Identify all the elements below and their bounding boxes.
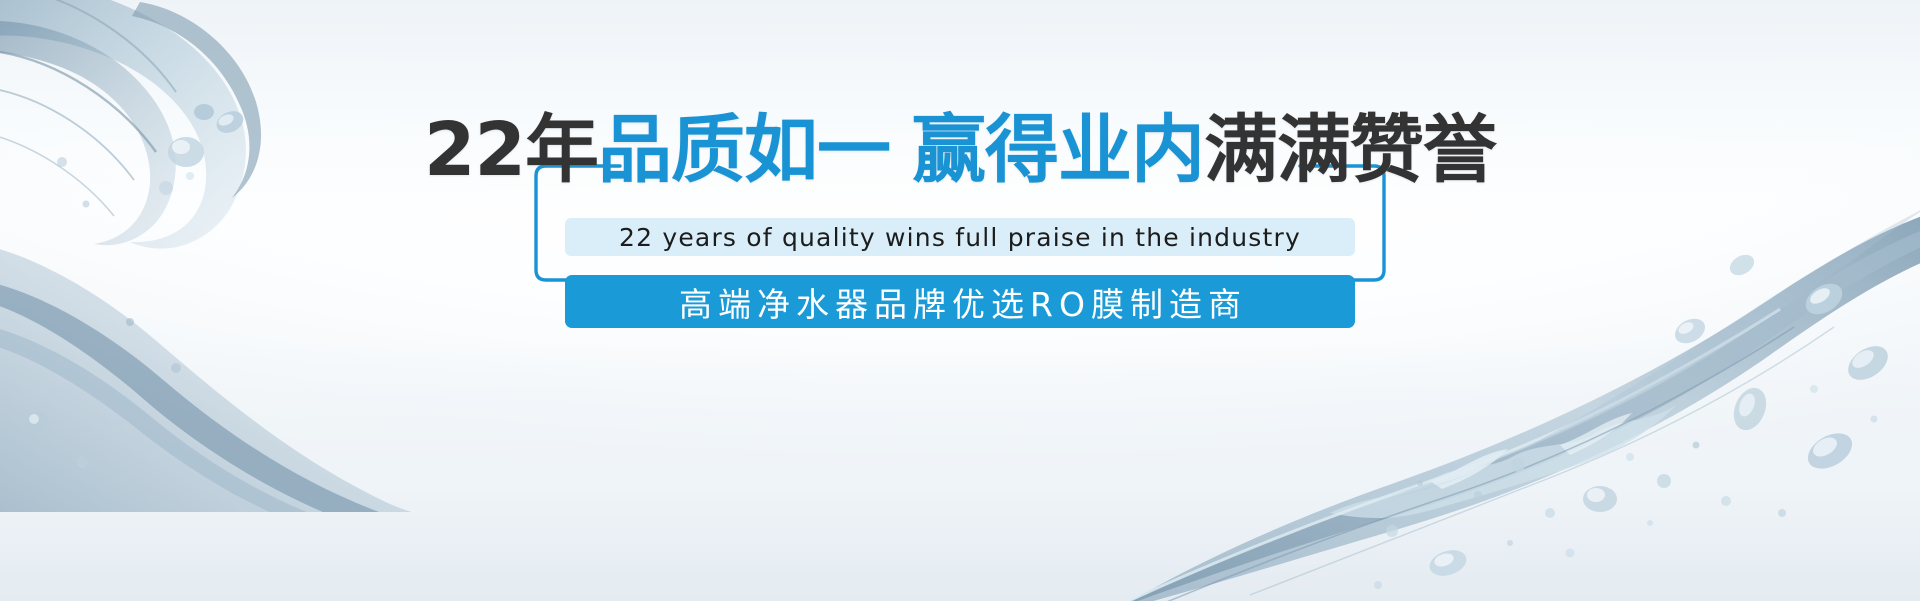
tagline-text: 高端净水器品牌优选RO膜制造商 [673,278,1247,326]
tagline-bar: 高端净水器品牌优选RO膜制造商 [565,275,1355,328]
english-subtitle-text: 22 years of quality wins full praise in … [619,223,1301,252]
headline-segment-4: 满满赞誉 [1204,107,1496,193]
page-title: 22年品质如一赢得业内满满赞誉 [424,106,1496,194]
english-subtitle-bar: 22 years of quality wins full praise in … [565,218,1355,256]
headline-segment-1: 22年 [424,107,598,193]
background-gradient-bottom [0,341,1920,601]
banner-content: 22年品质如一赢得业内满满赞誉 22 years of quality wins… [460,118,1460,328]
headline-segment-3: 赢得业内 [912,107,1204,193]
water-spray-right-upper-image [1380,200,1920,500]
headline-segment-2: 品质如一 [598,107,890,193]
promo-banner: 22年品质如一赢得业内满满赞誉 22 years of quality wins… [0,0,1920,601]
